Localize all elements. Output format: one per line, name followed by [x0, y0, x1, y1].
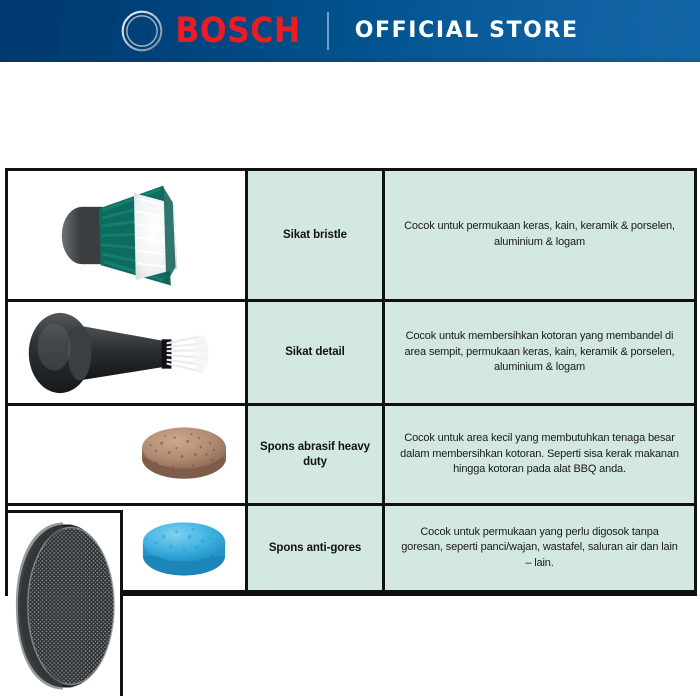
backing-pad-image — [8, 510, 123, 696]
accessory-description: Cocok untuk membersihkan kotoran yang me… — [399, 329, 680, 376]
accessory-description: Cocok untuk permukaan keras, kain, keram… — [399, 219, 680, 250]
brand-banner: BOSCH OFFICIAL STORE — [0, 0, 700, 62]
blue-sponge-image — [123, 506, 248, 590]
accessory-name: Spons anti-gores — [269, 541, 361, 555]
table-row: Spons abrasif heavy duty Cocok untuk are… — [8, 406, 694, 506]
accessory-name-cell: Spons anti-gores — [248, 506, 385, 590]
banner-divider — [327, 12, 329, 50]
accessory-name: Sikat bristle — [283, 228, 347, 242]
bristle-brush-image — [8, 171, 248, 299]
accessory-description: Cocok untuk area kecil yang membutuhkan … — [399, 431, 680, 478]
accessory-description-cell: Cocok untuk membersihkan kotoran yang me… — [385, 302, 694, 403]
accessory-name-cell: Sikat bristle — [248, 171, 385, 299]
bosch-wordmark: BOSCH — [175, 14, 300, 49]
accessory-description-cell: Cocok untuk area kecil yang membutuhkan … — [385, 406, 694, 503]
accessory-name: Sikat detail — [285, 345, 345, 359]
banner-content: BOSCH OFFICIAL STORE — [121, 10, 578, 52]
bosch-armature-icon — [121, 10, 163, 52]
detail-brush-image — [8, 302, 248, 403]
accessory-description-cell: Cocok untuk permukaan keras, kain, keram… — [385, 171, 694, 299]
accessory-name: Spons abrasif heavy duty — [252, 440, 378, 469]
accessory-description: Cocok untuk permukaan yang perlu digosok… — [399, 525, 680, 572]
accessory-name-cell: Spons abrasif heavy duty — [248, 406, 385, 503]
accessory-name-cell: Sikat detail — [248, 302, 385, 403]
accessory-description-cell: Cocok untuk permukaan yang perlu digosok… — [385, 506, 694, 590]
table-row: Sikat bristle Cocok untuk permukaan kera… — [8, 171, 694, 302]
abrasive-sponge-image — [123, 406, 248, 503]
accessory-comparison-table: Sikat bristle Cocok untuk permukaan kera… — [5, 168, 697, 596]
official-store-label: OFFICIAL STORE — [355, 20, 579, 42]
table-row: Sikat detail Cocok untuk membersihkan ko… — [8, 302, 694, 406]
